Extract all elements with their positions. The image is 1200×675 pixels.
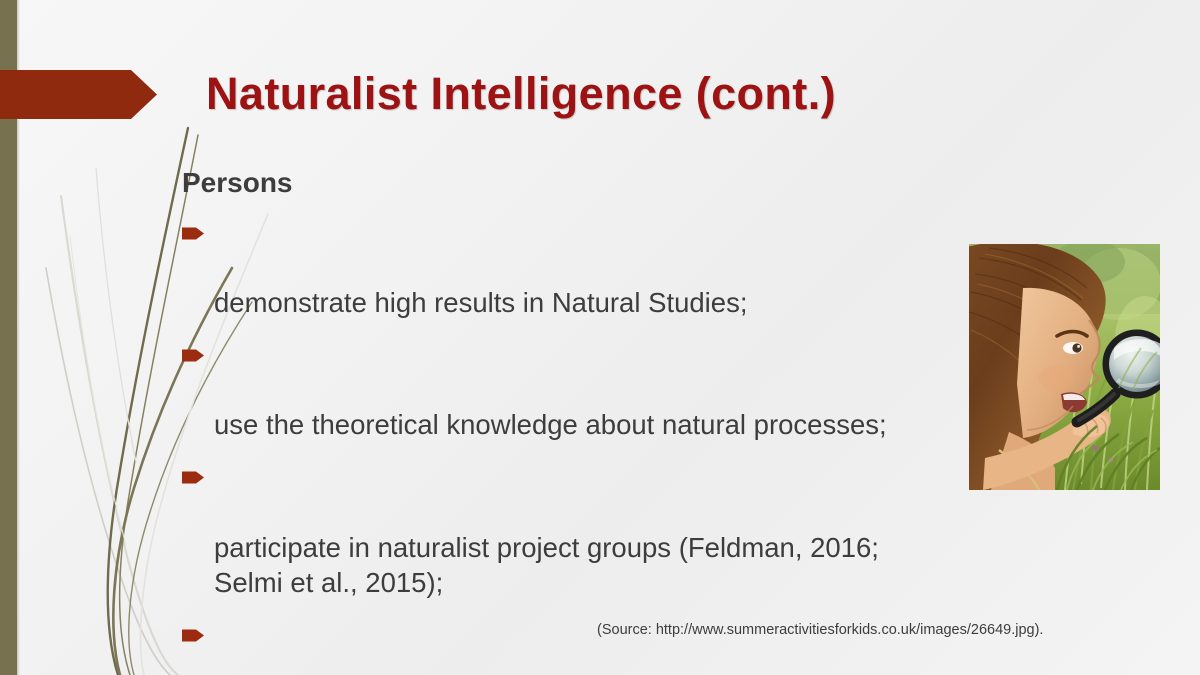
photo-illustration: [969, 244, 1160, 490]
list-item-text: use the theoretical knowledge about natu…: [214, 409, 887, 440]
slide-body: Persons demonstrate high results in Natu…: [182, 166, 902, 675]
list-item: participate in naturalist project groups…: [182, 458, 902, 601]
source-caption: (Source: http://www.summeractivitiesfork…: [597, 622, 1043, 638]
list-item: use the theoretical knowledge about natu…: [182, 336, 902, 443]
photo-girl-with-magnifying-glass: [969, 244, 1160, 490]
list-item-text: participate in naturalist project groups…: [214, 532, 879, 599]
arrow-bullet-icon: [182, 470, 204, 485]
list-item: demonstrate high results in Natural Stud…: [182, 214, 902, 321]
slide-title: Naturalist Intelligence (cont.): [206, 68, 836, 120]
title-banner-arrow: [0, 70, 157, 119]
arrow-bullet-icon: [182, 348, 204, 363]
presentation-slide: Naturalist Intelligence (cont.) Persons …: [0, 0, 1200, 675]
arrow-bullet-icon: [182, 226, 204, 241]
arrow-bullet-icon: [182, 628, 204, 643]
body-lead-heading: Persons: [182, 166, 902, 200]
bullet-list: demonstrate high results in Natural Stud…: [182, 214, 902, 675]
list-item-text: demonstrate high results in Natural Stud…: [214, 287, 747, 318]
